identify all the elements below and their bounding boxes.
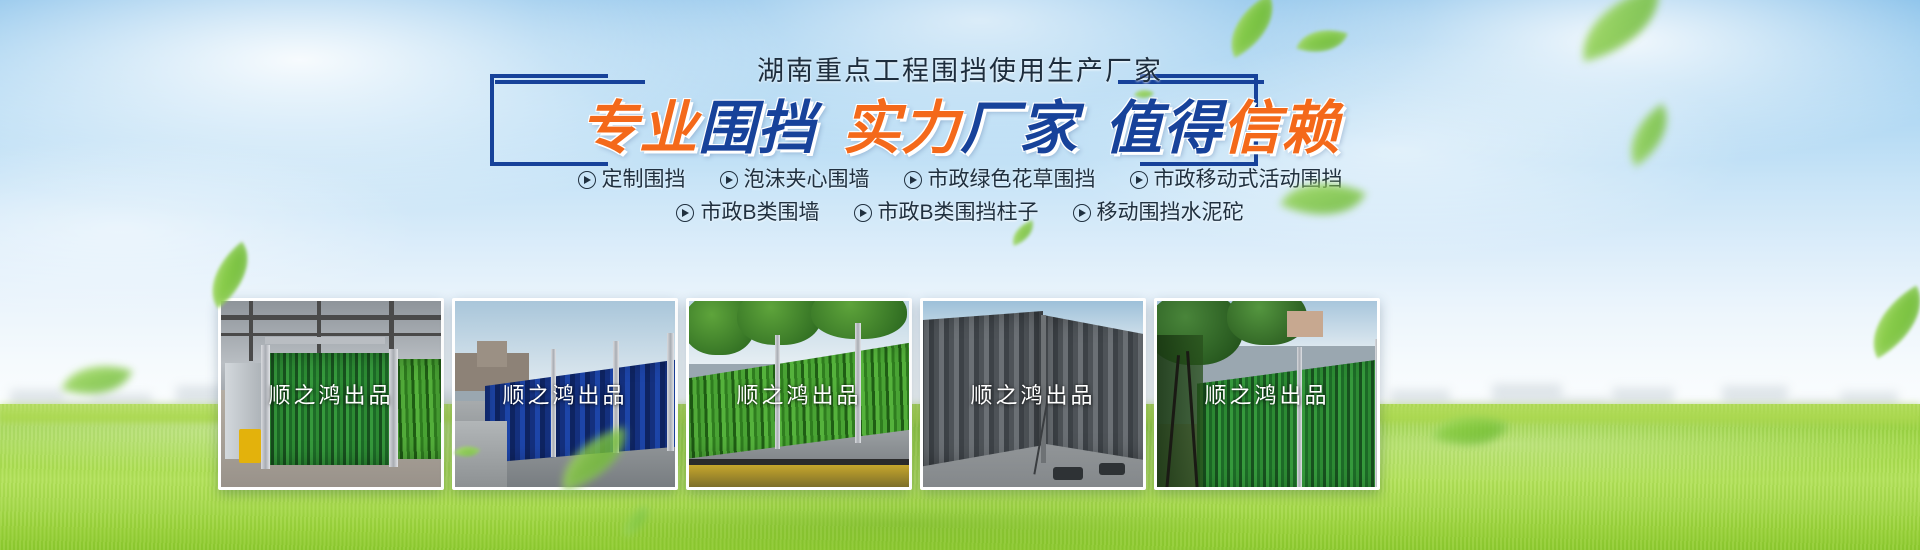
photo-watermark: 顺之鸿出品 bbox=[221, 378, 441, 410]
feature-bullet-list: 定制围挡 泡沫夹心围墙 市政绿色花草围挡 市政移动式活动围挡 bbox=[0, 160, 1920, 226]
play-circle-icon bbox=[904, 171, 922, 189]
feature-item[interactable]: 定制围挡 bbox=[578, 167, 686, 193]
feature-item[interactable]: 市政B类围墙 bbox=[676, 200, 819, 226]
feature-label: 移动围挡水泥砣 bbox=[1097, 200, 1244, 226]
headline-seg-6: 信赖 bbox=[1222, 96, 1340, 162]
play-circle-icon bbox=[676, 204, 694, 222]
feature-item[interactable]: 市政B类围挡柱子 bbox=[854, 200, 1039, 226]
feature-label: 市政B类围挡柱子 bbox=[878, 200, 1039, 226]
play-circle-icon bbox=[1130, 171, 1148, 189]
product-photo[interactable]: 顺之鸿出品 bbox=[218, 298, 444, 490]
headline-block: 湖南重点工程围挡使用生产厂家 专业围挡实力厂家值得信赖 定制围挡 泡沫夹心围墙 … bbox=[0, 0, 1920, 290]
product-photo[interactable]: 顺之鸿出品 bbox=[686, 298, 912, 490]
play-circle-icon bbox=[854, 204, 872, 222]
feature-label: 定制围挡 bbox=[602, 167, 686, 193]
feature-bullet-row-2: 市政B类围墙 市政B类围挡柱子 移动围挡水泥砣 bbox=[0, 200, 1920, 226]
headline-seg-2: 围挡 bbox=[698, 96, 816, 162]
photo-watermark: 顺之鸿出品 bbox=[1157, 378, 1377, 410]
feature-item[interactable]: 市政绿色花草围挡 bbox=[904, 167, 1096, 193]
feature-label: 市政移动式活动围挡 bbox=[1154, 167, 1343, 193]
headline-seg-1: 专业 bbox=[580, 96, 698, 162]
product-photo[interactable]: 顺之鸿出品 bbox=[452, 298, 678, 490]
photo-watermark: 顺之鸿出品 bbox=[455, 378, 675, 410]
photo-watermark: 顺之鸿出品 bbox=[923, 378, 1143, 410]
play-circle-icon bbox=[1073, 204, 1091, 222]
promo-banner: 湖南重点工程围挡使用生产厂家 专业围挡实力厂家值得信赖 定制围挡 泡沫夹心围墙 … bbox=[0, 0, 1920, 550]
feature-label: 泡沫夹心围墙 bbox=[744, 167, 870, 193]
feature-bullet-row-1: 定制围挡 泡沫夹心围墙 市政绿色花草围挡 市政移动式活动围挡 bbox=[0, 167, 1920, 193]
play-circle-icon bbox=[578, 171, 596, 189]
headline-seg-5: 值得 bbox=[1104, 96, 1222, 162]
product-photo-strip: 顺之鸿出品 顺之鸿出品 bbox=[0, 298, 1920, 490]
product-photo[interactable]: 顺之鸿出品 bbox=[920, 298, 1146, 490]
headline-seg-4: 厂家 bbox=[960, 96, 1078, 162]
feature-item[interactable]: 移动围挡水泥砣 bbox=[1073, 200, 1244, 226]
play-circle-icon bbox=[720, 171, 738, 189]
product-photo[interactable]: 顺之鸿出品 bbox=[1154, 298, 1380, 490]
feature-label: 市政B类围墙 bbox=[700, 200, 819, 226]
photo-watermark: 顺之鸿出品 bbox=[689, 378, 909, 410]
headline-seg-3: 实力 bbox=[842, 96, 960, 162]
feature-label: 市政绿色花草围挡 bbox=[928, 167, 1096, 193]
banner-headline: 专业围挡实力厂家值得信赖 bbox=[0, 96, 1920, 162]
feature-item[interactable]: 市政移动式活动围挡 bbox=[1130, 167, 1343, 193]
banner-subtitle: 湖南重点工程围挡使用生产厂家 bbox=[0, 55, 1920, 87]
feature-item[interactable]: 泡沫夹心围墙 bbox=[720, 167, 870, 193]
